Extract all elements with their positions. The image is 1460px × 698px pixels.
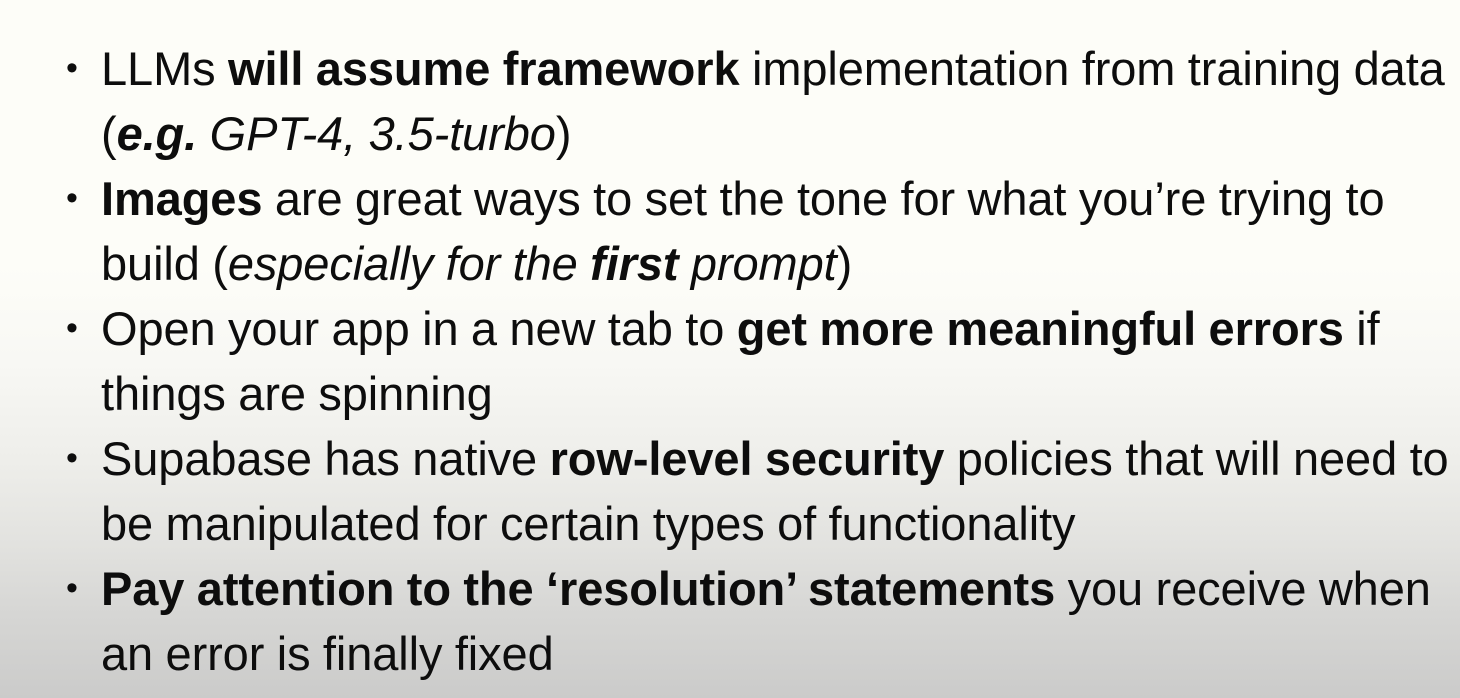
- bullet-text: Open your app in a new tab to get more m…: [101, 296, 1450, 426]
- bullet-point-icon: •: [66, 36, 90, 101]
- bullet-item: •Supabase has native row-level security …: [60, 426, 1450, 556]
- text-segment-normal: ): [556, 107, 572, 160]
- text-segment-bold: will assume framework: [228, 42, 740, 95]
- text-segment-strong-emphasis: first: [590, 237, 678, 290]
- bullet-list: •LLMs will assume framework implementati…: [60, 36, 1450, 686]
- text-segment-italic: especially for the: [228, 237, 590, 290]
- bullet-item: •Pay attention to the ‘resolution’ state…: [60, 556, 1450, 686]
- slide-canvas: •LLMs will assume framework implementati…: [0, 0, 1460, 698]
- text-segment-bold: Pay attention to the ‘resolution’ statem…: [101, 562, 1055, 615]
- text-segment-normal: [197, 107, 209, 160]
- bullet-point-icon: •: [66, 166, 90, 231]
- bullet-point-icon: •: [66, 426, 90, 491]
- bullet-point-icon: •: [66, 296, 90, 361]
- text-segment-normal: LLMs: [101, 42, 228, 95]
- text-segment-strong-emphasis: e.g.: [117, 107, 198, 160]
- bullet-item: •Images are great ways to set the tone f…: [60, 166, 1450, 296]
- text-segment-normal: Open your app in a new tab to: [101, 302, 737, 355]
- text-segment-bold: row-level security: [550, 432, 945, 485]
- bullet-point-icon: •: [66, 556, 90, 621]
- bullet-text: LLMs will assume framework implementatio…: [101, 36, 1450, 166]
- text-segment-bold: Images: [101, 172, 262, 225]
- text-segment-italic: GPT-4, 3.5-turbo: [210, 107, 556, 160]
- bullet-text: Pay attention to the ‘resolution’ statem…: [101, 556, 1450, 686]
- bullet-item: •Open your app in a new tab to get more …: [60, 296, 1450, 426]
- text-segment-emphasis: first: [590, 237, 678, 290]
- text-segment-italic: prompt: [678, 237, 836, 290]
- text-segment-normal: Supabase has native: [101, 432, 550, 485]
- bullet-item: •LLMs will assume framework implementati…: [60, 36, 1450, 166]
- text-segment-normal: ): [837, 237, 853, 290]
- bullet-text: Images are great ways to set the tone fo…: [101, 166, 1450, 296]
- bullet-text: Supabase has native row-level security p…: [101, 426, 1450, 556]
- text-segment-emphasis: e.g.: [117, 107, 198, 160]
- text-segment-bold: get more meaningful errors: [737, 302, 1344, 355]
